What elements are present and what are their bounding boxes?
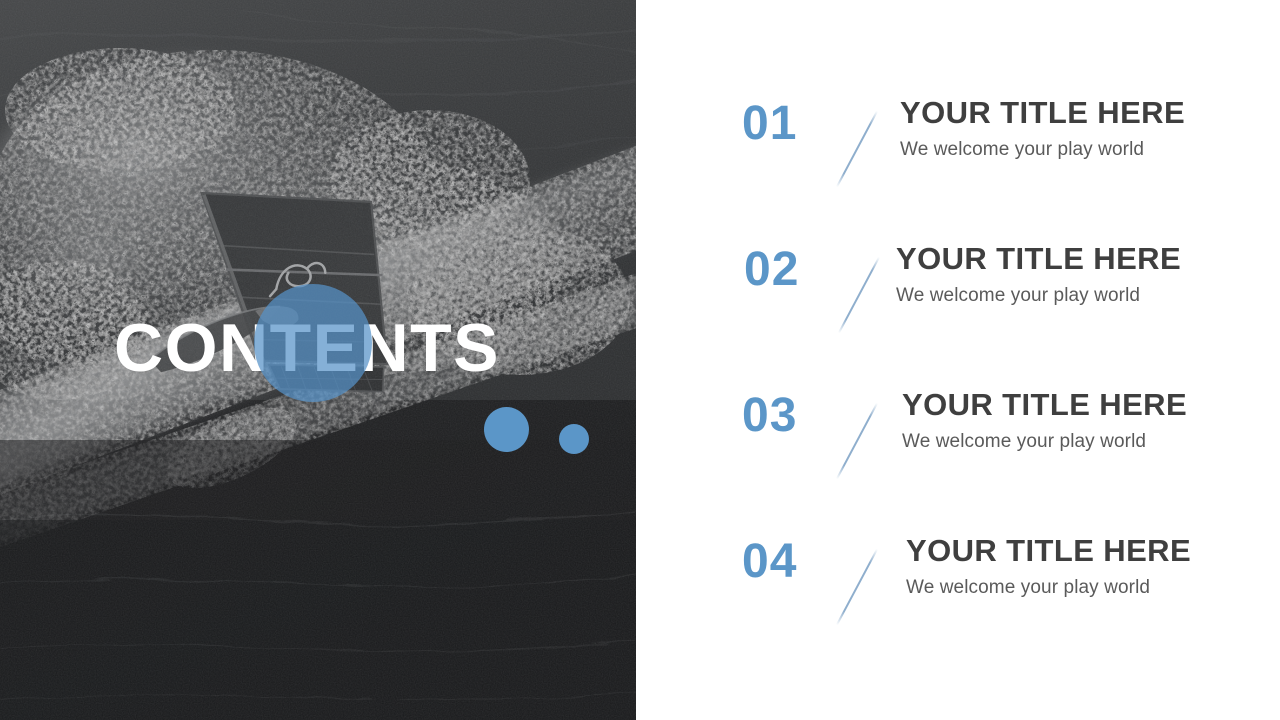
- agenda-panel: 01 YOUR TITLE HERE We welcome your play …: [636, 0, 1280, 720]
- agenda-subtitle-01: We welcome your play world: [900, 130, 1185, 162]
- agenda-text-02: YOUR TITLE HERE We welcome your play wor…: [896, 242, 1181, 308]
- agenda-number-03: 03: [742, 390, 797, 442]
- agenda-subtitle-03: We welcome your play world: [902, 422, 1187, 454]
- small-dot-decoration: [559, 424, 589, 454]
- agenda-title-01: YOUR TITLE HERE: [900, 96, 1185, 130]
- agenda-slash-01: [836, 111, 878, 188]
- agenda-title-03: YOUR TITLE HERE: [902, 388, 1187, 422]
- agenda-subtitle-02: We welcome your play world: [896, 276, 1181, 308]
- agenda-number-02: 02: [744, 244, 799, 296]
- agenda-title-04: YOUR TITLE HERE: [906, 534, 1191, 568]
- agenda-slash-03: [836, 403, 878, 480]
- agenda-text-04: YOUR TITLE HERE We welcome your play wor…: [906, 534, 1191, 600]
- agenda-slash-02: [838, 257, 880, 334]
- agenda-title-02: YOUR TITLE HERE: [896, 242, 1181, 276]
- hero-photo-panel: CONTENTS: [0, 0, 636, 720]
- agenda-text-03: YOUR TITLE HERE We welcome your play wor…: [902, 388, 1187, 454]
- page-title: CONTENTS: [114, 313, 500, 383]
- medium-dot-decoration: [484, 407, 529, 452]
- agenda-number-01: 01: [742, 98, 797, 150]
- agenda-number-04: 04: [742, 536, 797, 588]
- agenda-subtitle-04: We welcome your play world: [906, 568, 1191, 600]
- agenda-text-01: YOUR TITLE HERE We welcome your play wor…: [900, 96, 1185, 162]
- agenda-slash-04: [836, 549, 878, 626]
- contents-slide: CONTENTS 01 YOUR TITLE HERE We welcome y…: [0, 0, 1280, 720]
